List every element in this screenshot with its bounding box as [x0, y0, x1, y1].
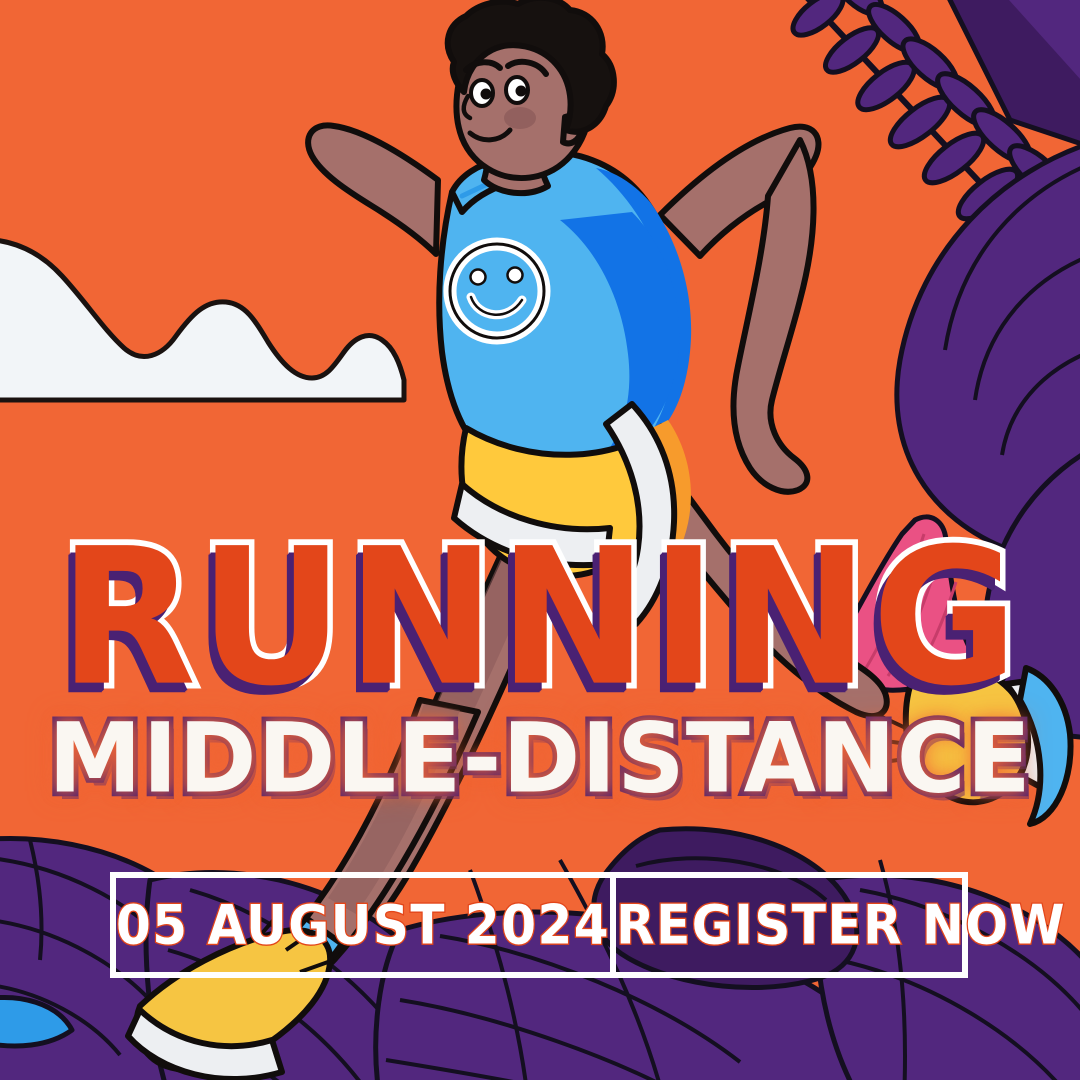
poster-text-block: RUNNING MIDDLE-DISTANCE	[0, 535, 1080, 805]
register-now-label: REGISTER NOW	[616, 894, 1066, 957]
poster-canvas: RUNNING MIDDLE-DISTANCE 05 AUGUST 2024 R…	[0, 0, 1080, 1080]
info-bar: 05 AUGUST 2024 REGISTER NOW	[110, 872, 968, 978]
page-title: RUNNING	[59, 530, 1021, 705]
event-date-cell: 05 AUGUST 2024	[116, 878, 610, 972]
page-subtitle: MIDDLE-DISTANCE	[0, 710, 1080, 807]
title-wrapper: RUNNING	[59, 535, 1021, 701]
register-now-button[interactable]: REGISTER NOW	[616, 878, 1066, 972]
event-date: 05 AUGUST 2024	[116, 894, 610, 957]
